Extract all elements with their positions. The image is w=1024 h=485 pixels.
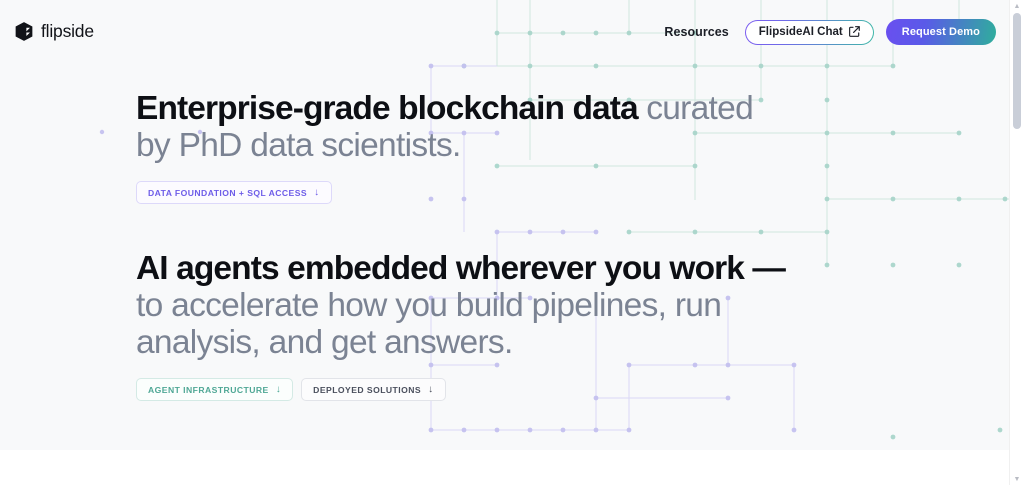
pill-deployed-solutions[interactable]: DEPLOYED SOLUTIONS ↓ — [301, 378, 445, 401]
pill-label: DATA FOUNDATION + SQL ACCESS — [148, 188, 307, 198]
hero-content: Enterprise-grade blockchain data curated… — [136, 90, 896, 401]
hero-pill-row-1: DATA FOUNDATION + SQL ACCESS ↓ — [136, 181, 896, 204]
external-link-icon — [849, 26, 860, 37]
headline-strong-2: AI agents embedded wherever you work — — [136, 250, 785, 287]
pill-data-foundation-sql-access[interactable]: DATA FOUNDATION + SQL ACCESS ↓ — [136, 181, 332, 204]
headline-muted-line-3: to accelerate how you build pipelines, r… — [136, 287, 896, 324]
arrow-down-icon: ↓ — [314, 188, 319, 198]
arrow-down-icon: ↓ — [276, 385, 281, 395]
pill-agent-infrastructure[interactable]: AGENT INFRASTRUCTURE ↓ — [136, 378, 293, 401]
arrow-down-icon: ↓ — [428, 385, 433, 395]
brand-logo[interactable]: flipside — [14, 21, 94, 42]
pill-label: AGENT INFRASTRUCTURE — [148, 385, 269, 395]
scroll-up-arrow-icon[interactable]: ▲ — [1010, 0, 1024, 12]
nav-link-resources[interactable]: Resources — [660, 25, 732, 39]
request-demo-button[interactable]: Request Demo — [886, 19, 996, 45]
hero-headline-primary: Enterprise-grade blockchain data curated… — [136, 90, 896, 164]
headline-muted-line-4: analysis, and get answers. — [136, 324, 896, 361]
brand-name: flipside — [41, 23, 94, 41]
scroll-down-arrow-icon[interactable]: ▼ — [1010, 473, 1024, 485]
pill-label: DEPLOYED SOLUTIONS — [313, 385, 421, 395]
page-root: flipside Resources FlipsideAI Chat Reque… — [0, 0, 1024, 485]
vertical-scrollbar[interactable]: ▲ ▼ — [1009, 0, 1024, 485]
flipside-ai-chat-label: FlipsideAI Chat — [759, 26, 843, 38]
flipside-ai-chat-button[interactable]: FlipsideAI Chat — [745, 20, 874, 45]
header-actions: Resources FlipsideAI Chat Request Demo — [660, 19, 996, 45]
headline-muted-line-2: by PhD data scientists. — [136, 127, 896, 164]
hero-block-ai-agents: AI agents embedded wherever you work — t… — [136, 250, 896, 401]
hero-headline-secondary: AI agents embedded wherever you work — t… — [136, 250, 896, 361]
scrollbar-thumb[interactable] — [1013, 13, 1021, 129]
hero-pill-row-2: AGENT INFRASTRUCTURE ↓ DEPLOYED SOLUTION… — [136, 378, 896, 401]
headline-strong-1: Enterprise-grade blockchain data — [136, 90, 646, 127]
hero-section: flipside Resources FlipsideAI Chat Reque… — [0, 0, 1010, 450]
headline-muted-1: curated — [646, 90, 753, 127]
hero-block-data-foundation: Enterprise-grade blockchain data curated… — [136, 90, 896, 204]
cube-logo-icon — [14, 21, 34, 42]
site-header: flipside Resources FlipsideAI Chat Reque… — [0, 0, 1010, 62]
